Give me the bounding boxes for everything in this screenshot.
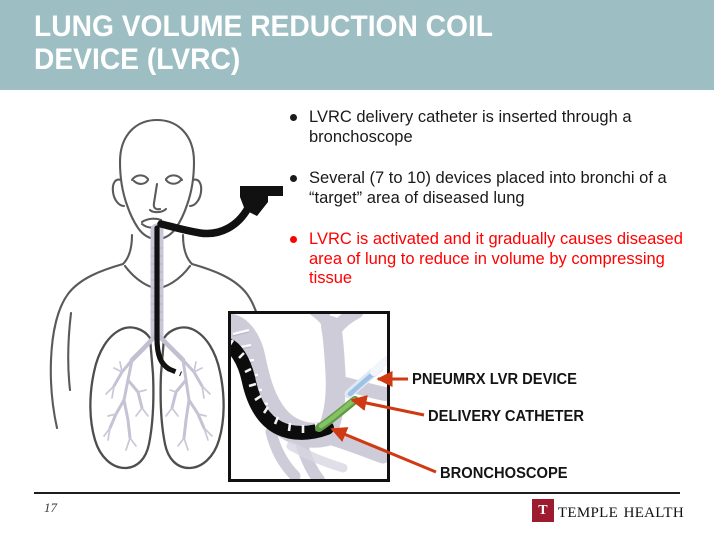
bullet-text-3: LVRC is activated and it gradually cause… [309,230,683,287]
temple-t-icon: T [532,499,554,522]
bullet-item-1: LVRC delivery catheter is inserted throu… [288,108,708,147]
bullet-item-2: Several (7 to 10) devices placed into br… [288,169,708,208]
bullet-list: LVRC delivery catheter is inserted throu… [288,108,708,311]
slide: LUNG VOLUME REDUCTION COIL DEVICE (LVRC) [0,0,714,535]
inset-closeup-figure [228,311,390,482]
page-title: LUNG VOLUME REDUCTION COIL DEVICE (LVRC) [34,10,654,76]
bullet-item-3: LVRC is activated and it gradually cause… [288,230,708,289]
footer-divider [34,492,680,494]
label-pneumrx-lvr-device: PNEUMRX LVR DEVICE [412,371,577,389]
label-delivery-catheter: DELIVERY CATHETER [428,408,584,426]
bullet-text-2: Several (7 to 10) devices placed into br… [309,169,667,207]
bullet-marker-icon [290,175,297,182]
logo-wordmark: Temple Health [558,498,684,523]
bullet-text-1: LVRC delivery catheter is inserted throu… [309,108,632,146]
temple-health-logo: T Temple Health [532,498,684,523]
page-number: 17 [44,500,57,516]
label-bronchoscope: BRONCHOSCOPE [440,465,568,483]
bullet-marker-icon [290,114,297,121]
bullet-marker-icon [290,236,297,243]
